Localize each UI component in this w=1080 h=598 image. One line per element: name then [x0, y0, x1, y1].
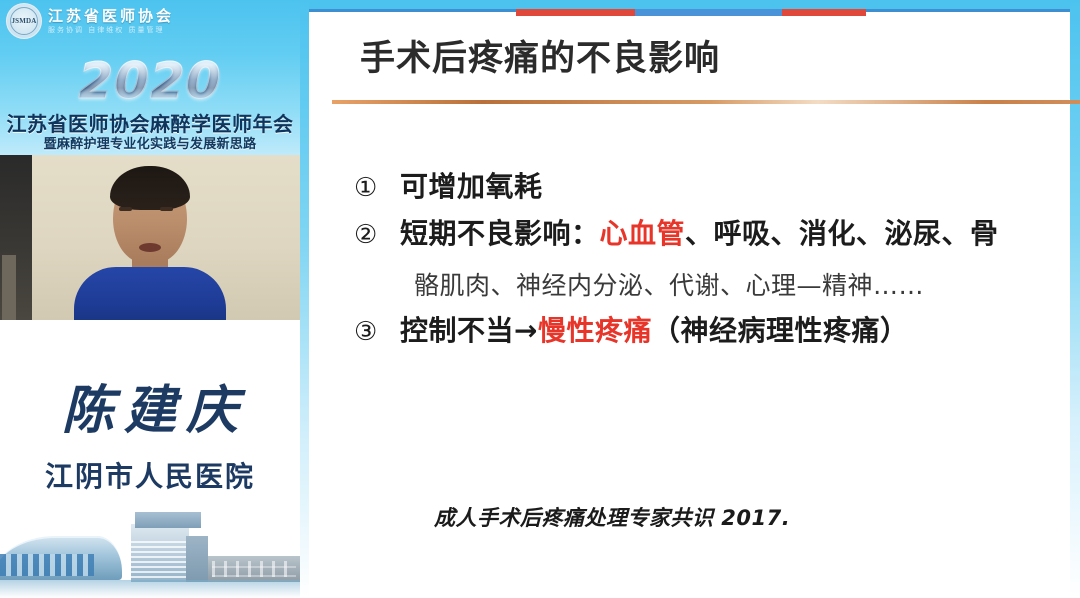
slide-bullet-list: ①可增加氧耗②短期不良影响：心血管、呼吸、消化、泌尿、骨骼肌肉、神经内分泌、代谢…	[354, 172, 1054, 363]
speaker-video-feed[interactable]	[0, 155, 300, 320]
speaker-eye-left	[119, 207, 132, 211]
bullet-text: 可增加氧耗	[400, 172, 543, 203]
accent-segment-1	[516, 9, 635, 16]
association-motto: 服务协调 自律维权 质量管理	[48, 27, 174, 34]
slide-frame-left	[300, 0, 309, 598]
presentation-slide: 手术后疼痛的不良影响 ①可增加氧耗②短期不良影响：心血管、呼吸、消化、泌尿、骨骼…	[300, 0, 1080, 598]
conference-banner: JSMDA 江苏省医师协会 服务协调 自律维权 质量管理 2020 江苏省医师协…	[0, 0, 300, 155]
skyline-secondary-tower	[186, 536, 208, 582]
skyline-water-reflection	[0, 580, 300, 598]
screenshot-root: JSMDA 江苏省医师协会 服务协调 自律维权 质量管理 2020 江苏省医师协…	[0, 0, 1080, 598]
bullet-plain-text: 控制不当→	[400, 314, 538, 347]
video-background-edge	[0, 155, 32, 320]
bullet-text: 控制不当→慢性疼痛（神经病理性疼痛）	[400, 316, 909, 347]
bullet-item: ③控制不当→慢性疼痛（神经病理性疼痛）	[354, 316, 1054, 347]
association-logo-text: 江苏省医师协会 服务协调 自律维权 质量管理	[48, 9, 174, 34]
slide-title: 手术后疼痛的不良影响	[360, 30, 720, 81]
slide-frame-right	[1070, 0, 1080, 598]
bullet-plain-text: 可增加氧耗	[400, 170, 543, 203]
bullet-text: 短期不良影响：心血管、呼吸、消化、泌尿、骨	[400, 219, 999, 250]
slide-title-rule	[332, 100, 1080, 104]
bullet-item: ②短期不良影响：心血管、呼吸、消化、泌尿、骨	[354, 219, 1054, 250]
bullet-plain-text: 短期不良影响：	[400, 217, 600, 250]
bullet-highlight-text: 慢性疼痛	[538, 314, 652, 347]
bullet-item: ①可增加氧耗	[354, 172, 1054, 203]
speaker-name: 陈建庆	[0, 368, 300, 443]
association-seal-icon: JSMDA	[6, 3, 42, 39]
bullet-highlight-text: 心血管	[600, 217, 686, 250]
accent-segment-2	[635, 9, 782, 16]
bullet-marker: ③	[354, 317, 400, 347]
slide-citation: 成人手术后疼痛处理专家共识 2017.	[434, 502, 790, 532]
conference-subtitle: 暨麻醉护理专业化实践与发展新思路	[0, 133, 300, 152]
bullet-marker: ②	[354, 220, 400, 250]
association-name: 江苏省医师协会	[48, 9, 174, 24]
accent-segment-3	[782, 9, 866, 16]
slide-accent-bar	[516, 9, 866, 16]
bullet-plain-text: （神经病理性疼痛）	[652, 314, 909, 347]
skyline-tower-building	[131, 524, 189, 582]
speaker-torso	[74, 267, 226, 320]
bullet-plain-text: 、呼吸、消化、泌尿、骨	[685, 217, 999, 250]
association-logo: JSMDA 江苏省医师协会 服务协调 自律维权 质量管理	[6, 3, 174, 39]
skyline-dome-building	[0, 536, 122, 580]
speaker-organization: 江阴市人民医院	[0, 455, 300, 495]
webinar-sidebar: JSMDA 江苏省医师协会 服务协调 自律维权 质量管理 2020 江苏省医师协…	[0, 0, 300, 598]
speaker-mouth	[139, 243, 161, 252]
seal-initials: JSMDA	[7, 17, 41, 25]
speaker-eye-right	[160, 207, 173, 211]
city-skyline-illustration	[0, 506, 300, 598]
bullet-marker: ①	[354, 173, 400, 203]
conference-year: 2020	[0, 52, 300, 110]
bullet-continuation-text: 骼肌肉、神经内分泌、代谢、心理—精神……	[414, 266, 1054, 302]
skyline-low-block	[208, 556, 300, 582]
